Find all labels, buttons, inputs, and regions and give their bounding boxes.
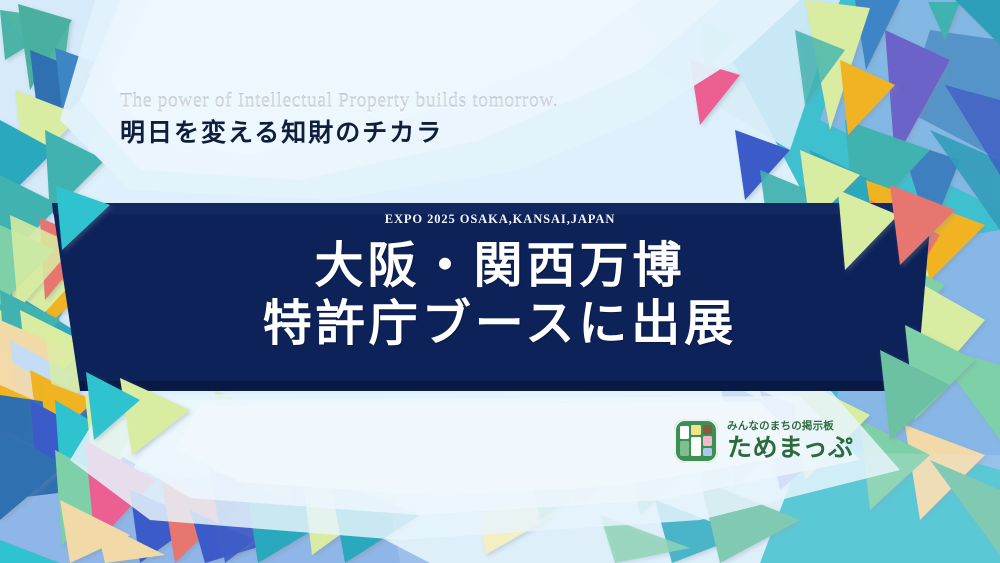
logo-tile-3	[691, 437, 701, 456]
tagline-english: The power of Intellectual Property build…	[120, 90, 558, 113]
logo-text-block: みんなのまちの掲示板 ためまっぷ	[727, 421, 854, 461]
tagline-block: The power of Intellectual Property build…	[120, 90, 558, 148]
logo-tile-0	[680, 426, 689, 439]
logo-tile-6	[703, 448, 712, 456]
logo-tile-4	[703, 425, 712, 434]
logo-subtitle: みんなのまちの掲示板	[727, 421, 854, 433]
tamemap-bulletin-board-icon	[674, 419, 718, 463]
promo-banner-canvas: The power of Intellectual Property build…	[0, 0, 1000, 563]
tamemap-logo[interactable]: みんなのまちの掲示板 ためまっぷ	[674, 419, 854, 463]
banner-eyebrow: EXPO 2025 OSAKA,KANSAI,JAPAN	[0, 212, 1000, 227]
tagline-japanese: 明日を変える知財のチカラ	[120, 118, 558, 148]
logo-tile-1	[680, 441, 689, 456]
banner-headline-line-2: 特許庁ブースに出展	[0, 295, 1000, 351]
banner-headline-line-1: 大阪・関西万博	[0, 237, 1000, 293]
logo-tile-5	[703, 436, 712, 446]
logo-name: ためまっぷ	[727, 435, 854, 461]
banner-text-block: EXPO 2025 OSAKA,KANSAI,JAPAN 大阪・関西万博 特許庁…	[0, 212, 1000, 352]
logo-tile-2	[691, 425, 701, 435]
